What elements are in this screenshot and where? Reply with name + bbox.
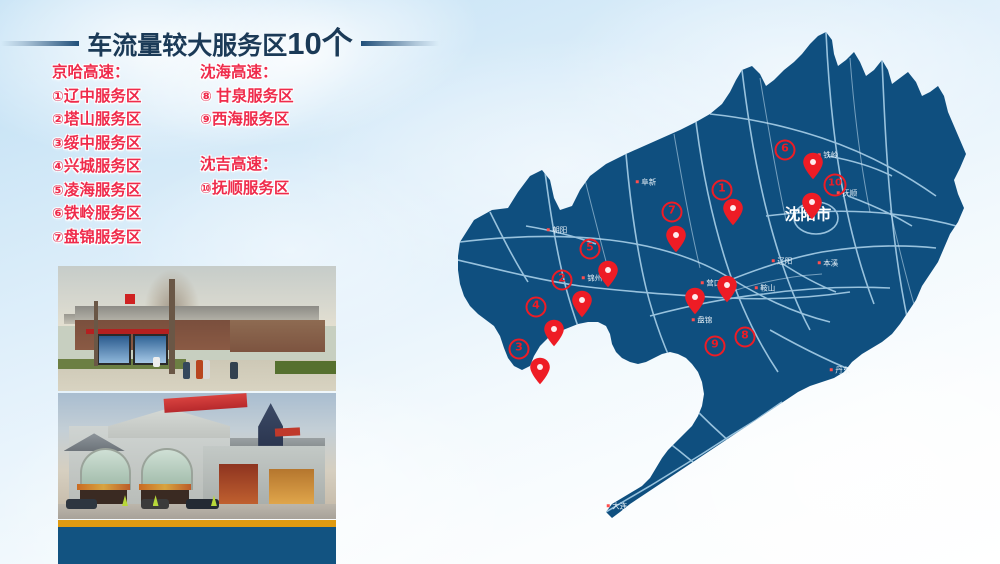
list-item-number: ⑨ bbox=[200, 111, 212, 127]
map-pin-marker[interactable] bbox=[530, 357, 551, 385]
title-rule-left bbox=[1, 41, 79, 46]
list-item-label: 辽中服务区 bbox=[64, 88, 142, 105]
list-heading-text: 京哈高速： bbox=[52, 64, 130, 81]
list-heading: 京哈高速： bbox=[52, 62, 141, 85]
list-item-label: 西海服务区 bbox=[212, 111, 290, 128]
service-area-lists: 京哈高速：①辽中服务区②塔山服务区③绥中服务区④兴城服务区⑤凌海服务区⑥铁岭服务… bbox=[0, 62, 440, 262]
map-marker-badge[interactable]: 3 bbox=[509, 339, 530, 360]
list-item-label: 抚顺服务区 bbox=[212, 180, 290, 197]
liaoning-province-map: 沈阳市铁岭抚顺本溪辽阳鞍山丹东营口盘锦锦州朝阳阜新大连12345678910 bbox=[430, 30, 1000, 550]
map-pin-marker[interactable] bbox=[684, 287, 705, 315]
list-column-jingha: 京哈高速：①辽中服务区②塔山服务区③绥中服务区④兴城服务区⑤凌海服务区⑥铁岭服务… bbox=[52, 62, 141, 249]
list-item: ④兴城服务区 bbox=[52, 155, 141, 179]
list-column-shenhai-shenji: 沈海高速：⑧ 甘泉服务区⑨西海服务区 沈吉高速：⑩抚顺服务区 bbox=[200, 62, 294, 200]
map-marker-badge[interactable]: 2 bbox=[552, 270, 573, 291]
list-item: ⑨西海服务区 bbox=[200, 108, 294, 132]
list-item: ⑤凌海服务区 bbox=[52, 179, 141, 203]
list-heading: 沈吉高速： bbox=[200, 154, 294, 177]
list-item-number: ⑤ bbox=[52, 182, 64, 198]
map-marker-badge[interactable]: 9 bbox=[705, 336, 726, 357]
list-heading-text: 沈吉高速： bbox=[200, 156, 278, 173]
accent-bar-gold bbox=[58, 520, 336, 527]
map-landmass bbox=[458, 32, 966, 518]
list-heading: 沈海高速： bbox=[200, 62, 294, 85]
list-heading-text: 沈海高速： bbox=[200, 64, 278, 81]
photo-service-area-plaza bbox=[58, 266, 336, 391]
province-shape bbox=[458, 32, 966, 518]
list-item-label: 甘泉服务区 bbox=[212, 88, 294, 105]
map-marker-badge[interactable]: 8 bbox=[735, 327, 756, 348]
list-item-number: ① bbox=[52, 88, 64, 104]
map-marker-badge[interactable]: 5 bbox=[580, 239, 601, 260]
page-title: 车流量较大服务区10个 bbox=[0, 22, 440, 64]
list-item-label: 凌海服务区 bbox=[64, 182, 142, 199]
map-marker-badge[interactable]: 1 bbox=[712, 180, 733, 201]
map-pin-marker[interactable] bbox=[543, 319, 564, 347]
list-item-label: 盘锦服务区 bbox=[64, 229, 142, 246]
map-pin-marker[interactable] bbox=[572, 290, 593, 318]
list-item: ②塔山服务区 bbox=[52, 108, 141, 132]
list-item-number: ⑦ bbox=[52, 229, 64, 245]
list-item: ⑦盘锦服务区 bbox=[52, 226, 141, 250]
page-title-text: 车流量较大服务区10个 bbox=[87, 28, 353, 59]
map-pin-marker[interactable] bbox=[717, 275, 738, 303]
map-pin-marker[interactable] bbox=[598, 260, 619, 288]
photo-service-area-building bbox=[58, 393, 336, 519]
map-marker-badge[interactable]: 10 bbox=[824, 174, 847, 197]
accent-bar-blue bbox=[58, 527, 336, 564]
map-svg bbox=[430, 30, 1000, 550]
list-item-number: ② bbox=[52, 111, 64, 127]
list-item-label: 塔山服务区 bbox=[64, 111, 142, 128]
title-rule-right bbox=[361, 41, 439, 46]
title-unit: 个 bbox=[322, 26, 353, 61]
title-count: 10 bbox=[287, 26, 321, 61]
list-item: ⑥铁岭服务区 bbox=[52, 202, 141, 226]
map-pin-marker[interactable] bbox=[666, 225, 687, 253]
map-pin-marker[interactable] bbox=[723, 198, 744, 226]
list-item-number: ⑩ bbox=[200, 180, 212, 196]
list-item-label: 铁岭服务区 bbox=[64, 205, 142, 222]
list-item: ⑩抚顺服务区 bbox=[200, 177, 294, 201]
map-marker-badge[interactable]: 4 bbox=[526, 297, 547, 318]
title-main: 车流量较大服务区 bbox=[87, 32, 287, 60]
list-spacer bbox=[200, 132, 294, 155]
list-item: ⑧ 甘泉服务区 bbox=[200, 85, 294, 109]
map-pin-marker[interactable] bbox=[802, 192, 823, 220]
list-item-number: ⑥ bbox=[52, 205, 64, 221]
infographic-root: 车流量较大服务区10个 京哈高速：①辽中服务区②塔山服务区③绥中服务区④兴城服务… bbox=[0, 0, 1000, 564]
map-marker-badge[interactable]: 7 bbox=[661, 202, 682, 223]
list-item-number: ④ bbox=[52, 158, 64, 174]
map-pin-marker[interactable] bbox=[803, 152, 824, 180]
list-item-number: ③ bbox=[52, 135, 64, 151]
list-item-label: 绥中服务区 bbox=[64, 135, 142, 152]
map-marker-badge[interactable]: 6 bbox=[775, 140, 796, 161]
list-item-number: ⑧ bbox=[200, 88, 212, 104]
list-item-label: 兴城服务区 bbox=[64, 158, 142, 175]
list-item: ①辽中服务区 bbox=[52, 85, 141, 109]
list-item: ③绥中服务区 bbox=[52, 132, 141, 156]
